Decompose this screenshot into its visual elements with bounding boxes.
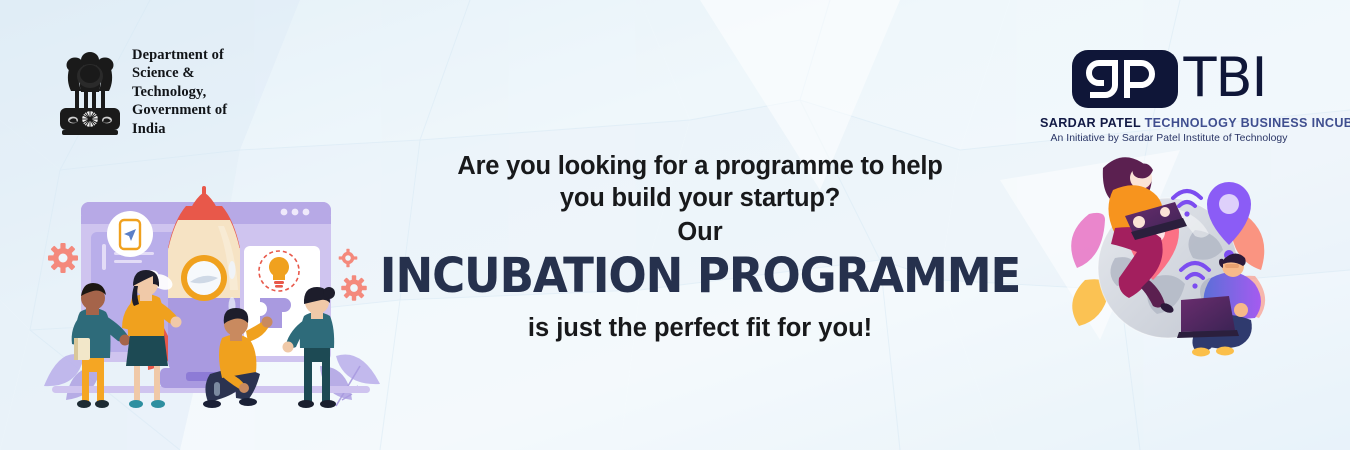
global-remote-work-illustration xyxy=(1055,152,1297,364)
mobile-send-icon xyxy=(107,211,153,257)
sptbi-subtitle: An Initiative by Sardar Patel Institute … xyxy=(1040,133,1298,144)
dst-logo: Department of Science & Technology, Gove… xyxy=(58,44,227,140)
dst-logo-text: Department of Science & Technology, Gove… xyxy=(132,46,227,139)
headline-tail: is just the perfect fit for you! xyxy=(355,312,1045,345)
page-title: INCUBATION PROGRAMME xyxy=(376,251,1025,303)
sp-monogram-icon xyxy=(1081,56,1169,102)
banner-copy: Are you looking for a programme to help … xyxy=(355,150,1045,345)
sptbi-tagline-rest: TECHNOLOGY BUSINESS INCUBATOR xyxy=(1141,116,1350,130)
sptbi-tagline-bold: SARDAR PATEL xyxy=(1040,116,1141,130)
sptbi-tagline: SARDAR PATEL TECHNOLOGY BUSINESS INCUBAT… xyxy=(1040,116,1298,130)
promo-banner: Department of Science & Technology, Gove… xyxy=(0,0,1350,450)
sptbi-logo: TBI SARDAR PATEL TECHNOLOGY BUSINESS INC… xyxy=(1040,48,1298,144)
headline-our: Our xyxy=(355,216,1045,249)
ashoka-lion-capital-emblem xyxy=(58,44,122,140)
headline-lead: Are you looking for a programme to help … xyxy=(355,150,1045,215)
sp-monogram-badge xyxy=(1072,50,1178,108)
sptbi-wordmark: TBI xyxy=(1184,51,1267,105)
startup-rocket-team-illustration xyxy=(36,186,386,432)
sptbi-logo-mark: TBI xyxy=(1040,48,1298,110)
